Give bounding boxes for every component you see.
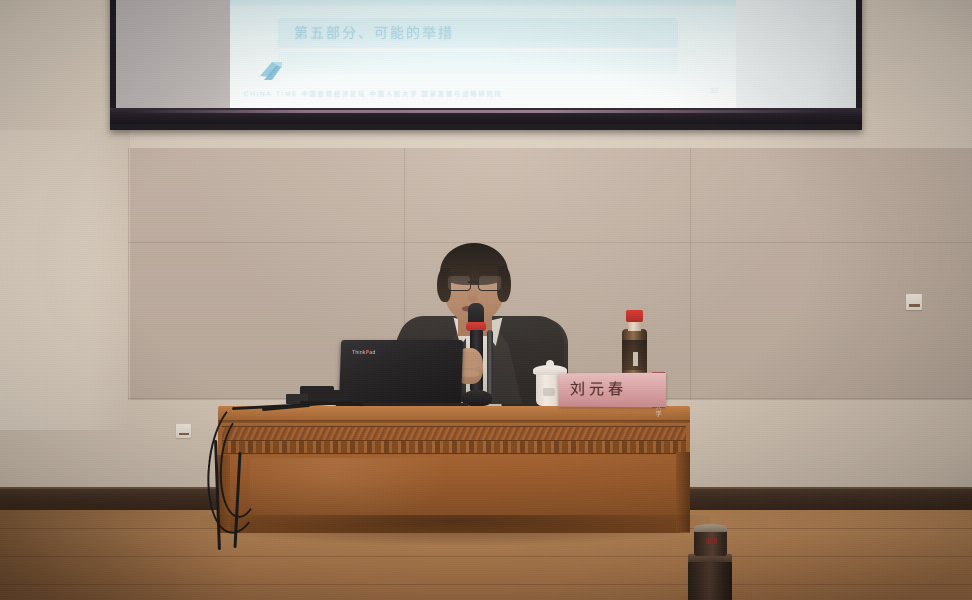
projection-screen: 第五部分、可能的举措 CHINA·TIME 中国宏观经济论坛 中国人民大学 国家… [110, 0, 862, 130]
screen-bottom-sheen [130, 110, 830, 113]
eyeglasses-lens-left [447, 275, 471, 291]
lecture-photo-scene: 第五部分、可能的举措 CHINA·TIME 中国宏观经济论坛 中国人民大学 国家… [0, 0, 972, 600]
speaker-nose [468, 288, 477, 302]
speaker-eyebrow-right [479, 271, 499, 274]
wall-outlet-right[interactable] [906, 294, 922, 310]
outlet-slot [909, 304, 920, 307]
speaker-eyebrow-left [448, 271, 468, 274]
water-bottle-cap[interactable] [626, 310, 643, 322]
desk-molding-rope [222, 426, 686, 441]
wall-seam [128, 148, 129, 400]
thermos-cap-top [694, 524, 727, 532]
eyeglasses-lens-right [478, 275, 502, 291]
wall-panel-light-left [0, 130, 130, 430]
water-bottle-neck [628, 321, 641, 331]
eyeglasses-bridge [468, 281, 479, 283]
thermos-body[interactable] [688, 560, 732, 600]
desk-molding-greek-key [222, 441, 686, 454]
teacup-knob [546, 360, 554, 367]
microphone-stand-pole [487, 330, 493, 394]
desk-top-edge [218, 420, 690, 423]
thinkpad-red-dot-icon [366, 350, 369, 353]
name-plate-text: 刘元春 [570, 378, 627, 399]
outlet-slot [179, 433, 189, 435]
screen-sheen [116, 0, 856, 114]
wall-outlet-left[interactable] [176, 424, 191, 438]
water-bottle-label-mark [633, 352, 638, 366]
thermos-badge-icon [706, 538, 717, 544]
desk-floor-shadow [200, 515, 710, 545]
teacup-emblem [543, 388, 555, 396]
projection-screen-surface: 第五部分、可能的举措 CHINA·TIME 中国宏观经济论坛 中国人民大学 国家… [116, 0, 856, 114]
